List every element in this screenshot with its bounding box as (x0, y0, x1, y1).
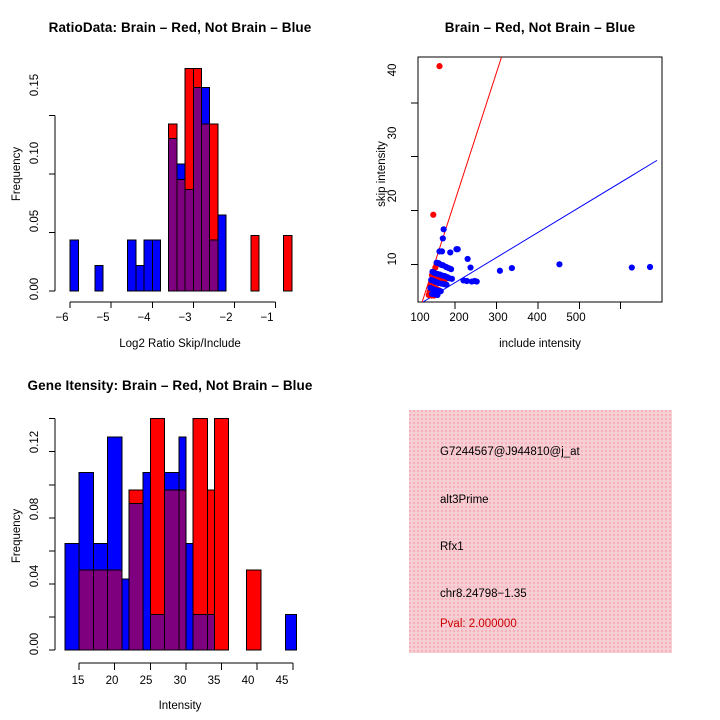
ratio-bar-top-11 (210, 124, 218, 240)
pval-text: Pval: 2.000000 (440, 618, 517, 630)
gene-bar-15 (286, 614, 297, 650)
gene-bar-overlap-8 (165, 490, 179, 650)
event-type-text: alt3Prime (440, 494, 489, 506)
intensity-scatter-panel: Brain – Red, Not Brain – Blue skip inten… (360, 0, 720, 360)
gene-bar-overlap-1 (79, 570, 93, 650)
probe-info-box: G7244567@J944810@j_at alt3Prime Rfx1 chr… (409, 410, 672, 653)
locus-text: chr8.24798−1.35 (440, 588, 527, 600)
gene-bar-overlap-11 (193, 614, 207, 650)
gene-bar-top-8 (165, 472, 179, 490)
ratio-bar-14 (284, 235, 292, 291)
gene-bar-overlap-5 (129, 503, 143, 650)
gene-intensity-panel: Gene Itensity: Brain – Red, Not Brain – … (0, 360, 360, 720)
ratio-bar-top-7 (177, 164, 185, 180)
ratio-bar-overlap-7 (177, 180, 185, 291)
probe-id-text: G7244567@J944810@j_at (440, 446, 580, 458)
gene-bar-0 (65, 543, 79, 650)
ratio-y-axis (49, 116, 55, 291)
gene-bar-14 (247, 570, 261, 650)
scatter-point-not-brain-34 (474, 278, 480, 284)
gene-bar-overlap-9 (179, 490, 186, 650)
ratio-bar-13 (251, 235, 259, 291)
scatter-canvas (360, 0, 720, 360)
scatter-inner (422, 57, 657, 302)
scatter-point-not-brain-0 (441, 226, 447, 232)
scatter-point-brain-0 (436, 63, 442, 69)
gene-bars (65, 419, 297, 650)
scatter-y-axis (411, 103, 418, 265)
scatter-point-not-brain-1 (440, 235, 446, 241)
gene-bar-overlap-3 (108, 570, 122, 650)
ratio-bar-top-9 (193, 68, 201, 87)
ratio-bar-overlap-6 (169, 139, 177, 291)
scatter-point-not-brain-29 (449, 276, 455, 282)
ratio-x-axis (70, 302, 275, 308)
ratio-histogram-panel: RatioData: Brain – Red, Not Brain – Blue… (0, 0, 360, 360)
scatter-point-not-brain-3 (439, 248, 445, 254)
ratio-bar-3 (136, 266, 144, 291)
scatter-point-not-brain-7 (465, 256, 471, 262)
gene-bar-top-5 (129, 490, 143, 503)
gene-bar-4 (122, 579, 129, 650)
ratio-bar-top-8 (185, 68, 193, 189)
gene-bar-top-9 (179, 437, 186, 490)
scatter-point-not-brain-6 (455, 246, 461, 252)
ratio-bar-top-6 (169, 124, 177, 138)
gene-bar-top-11 (193, 419, 207, 615)
ratio-bar-12 (218, 215, 226, 291)
ratio-bar-0 (70, 240, 78, 291)
ratio-bar-overlap-11 (210, 240, 218, 291)
scatter-point-not-brain-15 (467, 264, 473, 270)
ratio-bars (70, 68, 292, 291)
gene-bar-10 (186, 543, 193, 650)
ratio-bar-overlap-9 (193, 88, 201, 291)
ratio-bar-1 (95, 266, 103, 291)
gene-symbol-text: Rfx1 (440, 541, 464, 553)
ratio-bar-5 (152, 240, 160, 291)
gene-x-axis (79, 663, 293, 670)
gene-bar-top-2 (93, 543, 107, 570)
gene-bar-13 (214, 419, 228, 650)
scatter-point-not-brain-49 (434, 292, 440, 298)
scatter-point-not-brain-18 (556, 261, 562, 267)
scatter-point-not-brain-20 (647, 264, 653, 270)
scatter-point-not-brain-4 (447, 249, 453, 255)
ratio-bar-4 (144, 240, 152, 291)
scatter-point-not-brain-14 (448, 266, 454, 272)
scatter-point-brain-1 (430, 212, 436, 218)
gene-bar-top-12 (207, 490, 214, 614)
gene-bar-6 (143, 472, 150, 650)
gene-bar-overlap-12 (207, 614, 214, 650)
gene-y-axis (49, 419, 55, 650)
probe-info-panel: G7244567@J944810@j_at alt3Prime Rfx1 chr… (360, 360, 720, 720)
scatter-x-axis (455, 302, 620, 309)
gene-bar-top-7 (150, 419, 164, 615)
scatter-point-not-brain-19 (629, 264, 635, 270)
scatter-point-not-brain-17 (509, 265, 515, 271)
ratio-bar-2 (128, 240, 136, 291)
gene-histogram-canvas (0, 360, 360, 720)
gene-bar-overlap-7 (150, 614, 164, 650)
ratio-histogram-canvas (0, 0, 360, 360)
scatter-fit-line-not-brain-fit (423, 160, 657, 302)
ratio-bar-overlap-8 (185, 189, 193, 291)
scatter-point-not-brain-41 (443, 282, 449, 288)
gene-bar-overlap-2 (93, 570, 107, 650)
ratio-bar-top-10 (202, 88, 210, 124)
scatter-point-not-brain-16 (497, 268, 503, 274)
gene-bar-top-3 (108, 437, 122, 570)
gene-bar-top-1 (79, 472, 93, 570)
ratio-bar-overlap-10 (202, 124, 210, 291)
